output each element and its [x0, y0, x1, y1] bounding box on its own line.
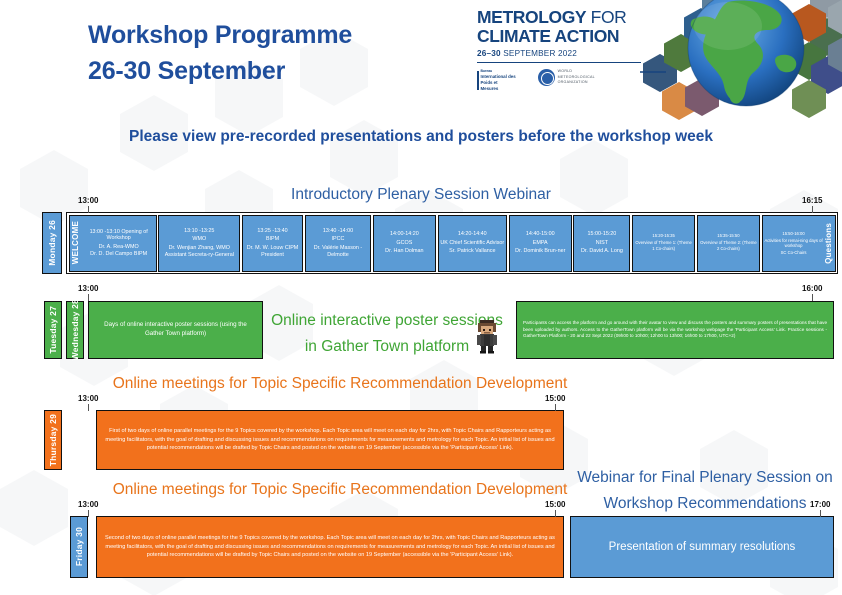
monday-session-2-people: Dr. M. W. Louw CIPM President: [244, 245, 301, 259]
pre-recorded-banner: Please view pre-recorded presentations a…: [0, 128, 842, 146]
globe-illustration: [640, 0, 842, 126]
bipm-line-3: Mesures: [481, 86, 516, 92]
monday-session-3-time: 13:40 -14:00: [323, 228, 353, 235]
monday-session-7-time: 15:00-15:20: [588, 231, 617, 238]
monday-session-0-people: Dr. A. Rea-WMO Dr. D. Del Campo BIPM: [83, 244, 155, 258]
friday-plenary-box-text: Presentation of summary resolutions: [609, 541, 796, 553]
logo-dates-bold: 26–30: [477, 49, 501, 58]
monday-session-4-org: GCOS: [396, 240, 412, 247]
monday-session-5[interactable]: 14:20-14:40 UK Chief Scientific Advisor …: [438, 215, 508, 272]
monday-session-7-org: NIST: [596, 240, 608, 247]
monday-session-6-time: 14:40-15:00: [526, 231, 555, 238]
monday-session-5-people: Sr. Patrick Vallance: [449, 248, 495, 255]
monday-session-8-time: 15:20-15:35: [652, 233, 674, 238]
monday-session-10-time: 15:50-16:00: [764, 231, 824, 236]
thursday-detail-text: First of two days of online parallel mee…: [105, 427, 555, 454]
wmo-logo: WORLD METEOROLOGICAL ORGANIZATION: [538, 69, 595, 86]
monday-session-1-time: 13:10 -13:25: [184, 228, 214, 235]
friday-tick-mid: 15:00: [545, 500, 565, 509]
bipm-logo: Bureau International des Poids et Mesure…: [477, 69, 516, 93]
friday-plenary-heading-line-1: Webinar for Final Plenary Session on: [570, 465, 840, 491]
bipm-line-1: International des: [481, 74, 516, 80]
friday-tick-end: 17:00: [810, 500, 830, 509]
monday-session-2-org: BIPM: [266, 236, 279, 243]
daybar-thursday: Thursday 29: [44, 410, 62, 470]
logo-dates-rest: SEPTEMBER 2022: [503, 49, 577, 58]
monday-session-5-org: UK Chief Scientific Advisor: [440, 240, 504, 247]
monday-session-2[interactable]: 13:25 -13:40 BIPM Dr. M. W. Louw CIPM Pr…: [242, 215, 303, 272]
monday-session-5-time: 14:20-14:40: [458, 231, 487, 238]
logo-dates: 26–30 SEPTEMBER 2022: [477, 49, 642, 58]
logo-divider: [477, 62, 641, 63]
questions-label: Questions: [824, 223, 834, 264]
monday-session-0-time: 13:00 -13:10 Opening of Workshop: [83, 229, 155, 243]
page-title: Workshop Programme 26-30 September: [88, 18, 352, 89]
monday-session-3-org: IPCC: [332, 236, 345, 243]
monday-session-1-people: Dr. Wenjian Zhang, WMO Assistant Secreta…: [160, 245, 238, 259]
monday-session-0[interactable]: WELCOME 13:00 -13:10 Opening of Workshop…: [69, 215, 157, 272]
monday-session-10-org: Activities for remai-ning days of worksh…: [764, 238, 824, 249]
thursday-detail-box[interactable]: First of two days of online parallel mee…: [96, 410, 564, 470]
bipm-logo-text: Bureau International des Poids et Mesure…: [481, 69, 516, 93]
friday-heading-text: Online meetings for Topic Specific Recom…: [113, 481, 568, 498]
monday-session-1[interactable]: 13:10 -13:25 WMO Dr. Wenjian Zhang, WMO …: [158, 215, 240, 272]
friday-tick-start: 13:00: [78, 500, 98, 509]
monday-session-8-org: Overview of Theme 1: (Theme 1 Co-chairs): [634, 240, 693, 251]
monday-session-4-people: Dr. Han Dolman: [385, 248, 423, 255]
daybar-monday: Monday 26: [42, 212, 62, 274]
friday-ticks: 13:00 15:00 17:00: [0, 500, 842, 518]
midweek-left-box-text: Days of online interactive poster sessio…: [95, 321, 256, 339]
monday-session-6[interactable]: 14:40-15:00 EMPA Dr. Dominik Brun-ner: [509, 215, 572, 272]
logo-word-for: FOR: [591, 7, 627, 27]
midweek-right-box[interactable]: Participants can access the platform and…: [516, 301, 834, 359]
monday-ticks: 13:00 16:15: [0, 196, 842, 214]
monday-session-9[interactable]: 15:35-15:50 Overview of Theme 2: (Theme …: [697, 215, 760, 272]
monday-tick-start: 13:00: [78, 196, 98, 205]
daybar-friday: Friday 30: [70, 516, 88, 578]
monday-session-10-people: SC Co-Chairs: [764, 250, 824, 255]
monday-tick-end: 16:15: [802, 196, 822, 205]
wmo-logo-text: WORLD METEOROLOGICAL ORGANIZATION: [558, 69, 595, 85]
friday-plenary-box[interactable]: Presentation of summary resolutions: [570, 516, 834, 578]
thursday-tick-end: 15:00: [545, 394, 565, 403]
midweek-right-box-text: Participants can access the platform and…: [523, 320, 827, 341]
monday-session-7-people: Dr. David A. Long: [581, 248, 623, 255]
monday-session-6-people: Dr. Dominik Brun-ner: [515, 248, 565, 255]
monday-session-4-time: 14:00-14:20: [390, 231, 419, 238]
daybar-wednesday: Wednesday 28: [66, 301, 84, 359]
monday-session-4[interactable]: 14:00-14:20 GCOS Dr. Han Dolman: [373, 215, 436, 272]
monday-session-9-org: Overview of Theme 2: (Theme 2 Co-chairs): [699, 240, 758, 251]
monday-session-8[interactable]: 15:20-15:35 Overview of Theme 1: (Theme …: [632, 215, 695, 272]
logo-organisations: Bureau International des Poids et Mesure…: [477, 69, 642, 93]
monday-session-3-people: Dr. Valérie Masson -Delmotte: [307, 245, 369, 259]
monday-session-1-org: WMO: [192, 236, 206, 243]
logo-line-1: METROLOGY FOR: [477, 8, 642, 27]
monday-session-7[interactable]: 15:00-15:20 NIST Dr. David A. Long: [573, 215, 630, 272]
friday-detail-box[interactable]: Second of two days of online parallel me…: [96, 516, 564, 578]
midweek-left-box[interactable]: Days of online interactive poster sessio…: [88, 301, 263, 359]
midweek-tick-start: 13:00: [78, 284, 98, 293]
midweek-ticks: 13:00 16:00: [0, 284, 842, 302]
friday-detail-text: Second of two days of online parallel me…: [105, 534, 555, 561]
wmo-seal-icon: [538, 69, 555, 86]
thursday-heading: Online meetings for Topic Specific Recom…: [60, 375, 620, 393]
monday-session-6-org: EMPA: [533, 240, 548, 247]
monday-session-3[interactable]: 13:40 -14:00 IPCC Dr. Valérie Masson -De…: [305, 215, 371, 272]
gather-town-avatar: [472, 318, 502, 354]
monday-session-track: WELCOME 13:00 -13:10 Opening of Workshop…: [66, 212, 838, 274]
welcome-label: WELCOME: [71, 221, 81, 264]
bipm-logo-bar: [477, 71, 479, 90]
midweek-tick-end: 16:00: [802, 284, 822, 293]
page-title-line-2: 26-30 September: [88, 54, 352, 90]
event-logo: METROLOGY FOR CLIMATE ACTION 26–30 SEPTE…: [477, 8, 642, 92]
daybar-tuesday: Tuesday 27: [44, 301, 62, 359]
friday-heading: Online meetings for Topic Specific Recom…: [60, 481, 620, 499]
page-title-line-1: Workshop Programme: [88, 18, 352, 54]
logo-word-metrology: METROLOGY: [477, 7, 586, 27]
thursday-ticks: 13:00 15:00: [0, 394, 842, 412]
thursday-heading-text: Online meetings for Topic Specific Recom…: [113, 375, 568, 392]
monday-session-10[interactable]: 15:50-16:00 Activities for remai-ning da…: [762, 215, 836, 272]
monday-session-9-time: 15:35-15:50: [717, 233, 739, 238]
page-header: Workshop Programme 26-30 September METRO…: [0, 0, 842, 120]
thursday-tick-start: 13:00: [78, 394, 98, 403]
monday-session-2-time: 13:25 -13:40: [257, 228, 287, 235]
wmo-line-2: ORGANIZATION: [558, 80, 595, 85]
logo-line-2: CLIMATE ACTION: [477, 27, 642, 46]
